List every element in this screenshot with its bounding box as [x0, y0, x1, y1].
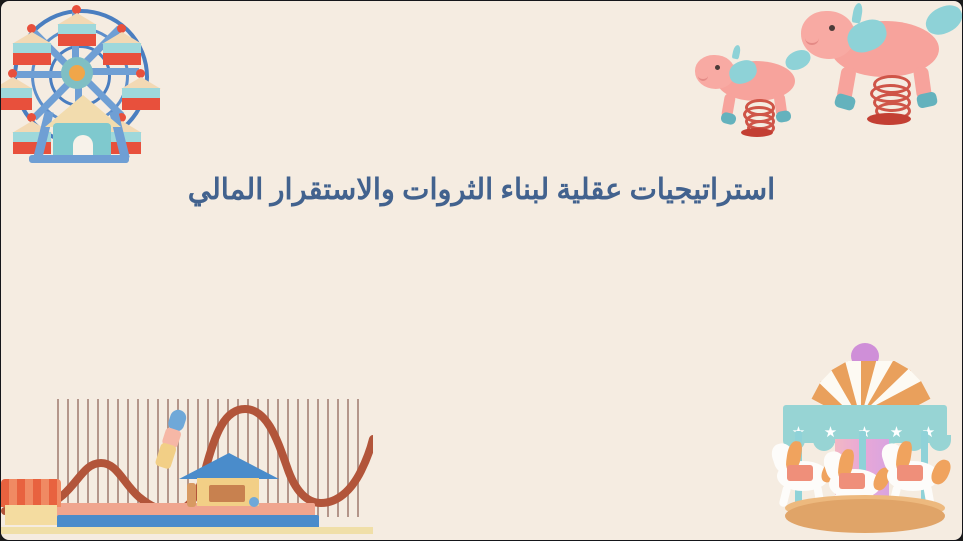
- ferris-wheel-cabin: [12, 32, 52, 66]
- ticket-booth: [1, 479, 63, 523]
- station-lamp-icon: [249, 497, 259, 507]
- station-door: [209, 485, 245, 502]
- coaster-station: [179, 453, 279, 509]
- carousel-illustration: ★ ★ ★ ★ ★: [769, 339, 959, 539]
- ferris-wheel-ground-bar: [29, 155, 129, 163]
- station-roof: [179, 453, 279, 479]
- lift-car-segment: [154, 442, 177, 470]
- carousel-horse-saddle: [839, 473, 865, 489]
- horse-hoof: [833, 93, 856, 112]
- cabin-lower: [103, 53, 141, 65]
- carousel-star-icon: ★: [889, 425, 904, 440]
- presentation-slide: ★ ★ ★ ★ ★: [0, 0, 963, 541]
- spring-horse-large: [801, 3, 963, 138]
- cabin-lower: [122, 98, 160, 110]
- horse-eye-icon: [829, 25, 835, 31]
- horse-horn-icon: [851, 2, 863, 23]
- ferris-wheel-illustration: [3, 3, 163, 169]
- station-chimney: [187, 483, 196, 507]
- booth-awning: [1, 479, 61, 501]
- spring-base: [741, 128, 773, 137]
- coaster-ground: [1, 527, 373, 534]
- page-title: استراتيجيات عقلية لبناء الثروات والاستقر…: [132, 173, 832, 208]
- cabin-lower: [58, 34, 96, 46]
- spring-base: [867, 113, 911, 125]
- booth-body: [5, 505, 57, 525]
- cabin-lower: [0, 98, 32, 110]
- carousel-base: [785, 499, 945, 533]
- title-block: استراتيجيات عقلية لبناء الثروات والاستقر…: [132, 173, 832, 208]
- horse-horn-icon: [732, 44, 742, 59]
- carousel-horse-saddle: [897, 465, 923, 481]
- horse-hoof: [720, 111, 737, 125]
- horse-hoof: [775, 110, 792, 123]
- carousel-horse-saddle: [787, 465, 813, 481]
- horse-hoof: [916, 91, 938, 109]
- ferris-wheel-cabin: [0, 77, 33, 111]
- cabin-lower: [13, 53, 51, 65]
- ferris-wheel-cabin: [121, 77, 161, 111]
- ferris-wheel-cabin: [102, 32, 142, 66]
- horse-eye-icon: [715, 65, 720, 70]
- carousel-horse-tail: [929, 457, 954, 487]
- carousel-star-icon: ★: [823, 425, 838, 440]
- ferris-wheel-hub: [69, 65, 85, 81]
- ferris-wheel-cabin: [57, 13, 97, 47]
